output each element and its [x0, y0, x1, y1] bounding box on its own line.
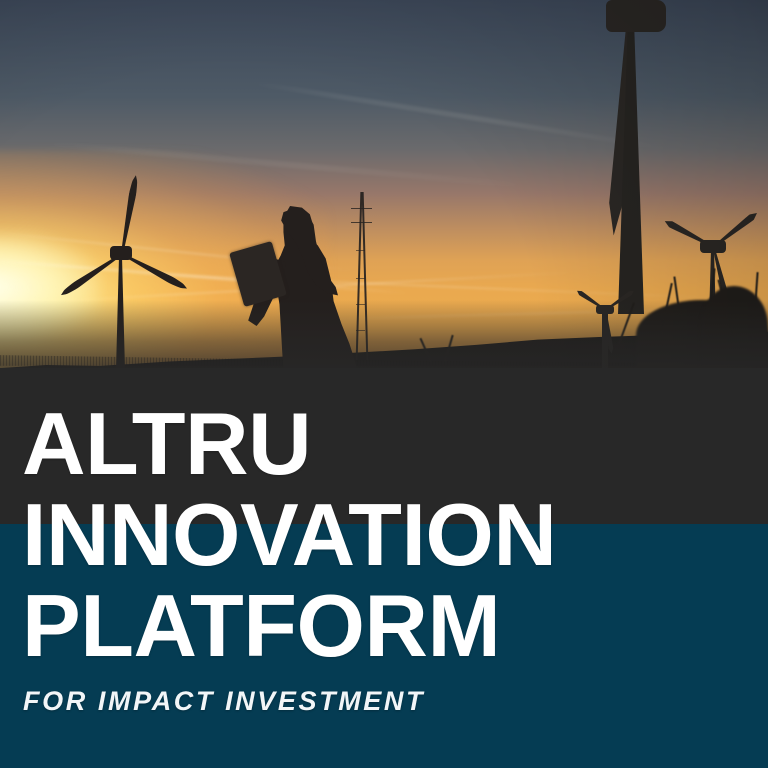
turbine-nacelle	[606, 0, 666, 32]
page-title: ALTRU INNOVATION PLATFORM	[22, 398, 758, 671]
tagline: FOR IMPACT INVESTMENT	[23, 686, 425, 717]
title-line-2: INNOVATION	[22, 489, 758, 580]
title-line-1: ALTRU	[22, 398, 758, 489]
title-line-3: PLATFORM	[22, 580, 758, 671]
turbine-anemometer	[652, 0, 654, 2]
tablet-device	[229, 241, 287, 307]
turbine-nacelle	[110, 246, 132, 260]
turbine-nacelle	[700, 240, 726, 253]
poster-canvas: ALTRU INNOVATION PLATFORM FOR IMPACT INV…	[0, 0, 768, 768]
